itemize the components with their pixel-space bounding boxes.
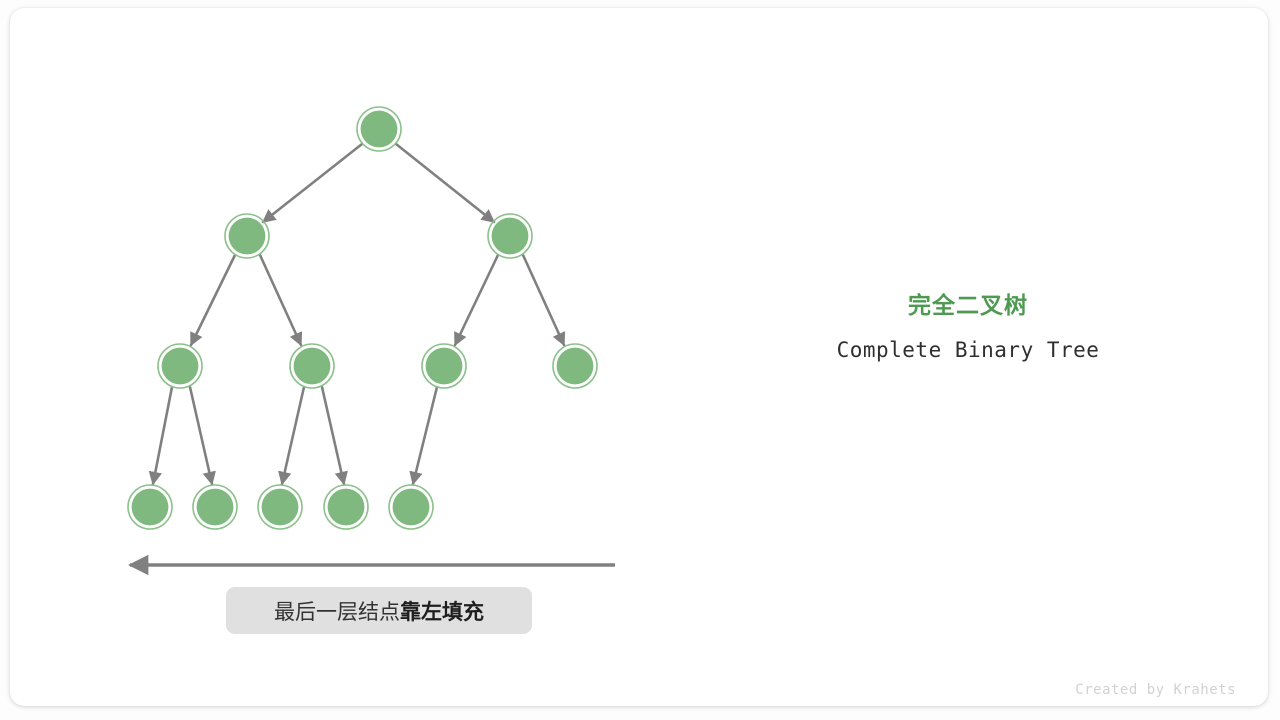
tree-node[interactable] <box>193 485 237 529</box>
note-text-normal: 最后一层结点 <box>274 601 400 624</box>
tree-node[interactable] <box>128 485 172 529</box>
tree-node[interactable] <box>488 214 532 258</box>
tree-edge <box>455 255 498 345</box>
tree-node[interactable] <box>258 485 302 529</box>
note-text: 最后一层结点靠左填充 <box>274 596 484 626</box>
tree-edge <box>282 387 304 484</box>
tree-node-group <box>128 107 597 529</box>
tree-edge <box>191 255 235 345</box>
tree-edge <box>322 387 344 484</box>
tree-edge <box>263 144 362 222</box>
tree-node[interactable] <box>225 214 269 258</box>
tree-node[interactable] <box>357 107 401 151</box>
screenshot-root: 完全二叉树 Complete Binary Tree 最后一层结点靠左填充 Cr… <box>0 0 1280 720</box>
tree-node[interactable] <box>389 485 433 529</box>
tree-edge <box>523 255 564 345</box>
tree-node[interactable] <box>324 485 368 529</box>
note-pill: 最后一层结点靠左填充 <box>226 587 532 634</box>
tree-node[interactable] <box>553 344 597 388</box>
tree-edge <box>413 387 437 484</box>
tree-edge <box>260 255 301 345</box>
tree-edge <box>396 144 494 222</box>
tree-node[interactable] <box>158 344 202 388</box>
diagram-title: 完全二叉树 <box>700 292 1236 320</box>
tree-edge <box>153 387 172 484</box>
diagram-subtitle: Complete Binary Tree <box>700 338 1236 362</box>
tree-edge-group <box>153 144 564 484</box>
tree-edge <box>190 387 212 484</box>
tree-node[interactable] <box>422 344 466 388</box>
note-text-strong: 靠左填充 <box>400 601 484 624</box>
caption-block: 完全二叉树 Complete Binary Tree <box>700 292 1236 362</box>
watermark: Created by Krahets <box>1075 682 1236 698</box>
tree-node[interactable] <box>290 344 334 388</box>
